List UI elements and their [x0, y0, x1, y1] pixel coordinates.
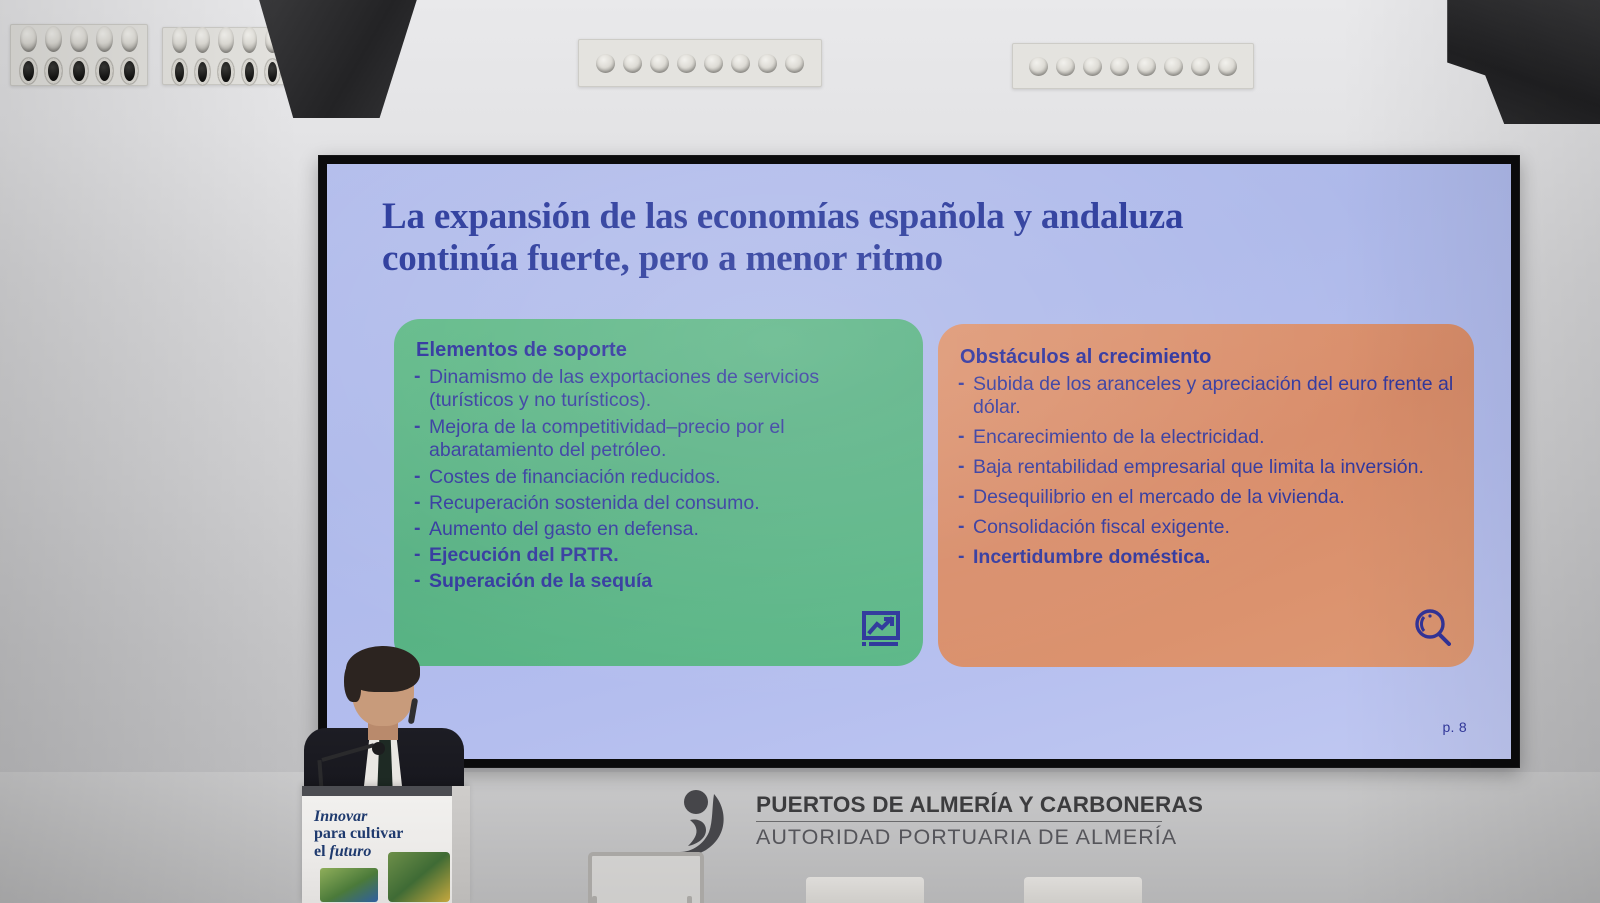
microphone-head-icon [372, 742, 385, 755]
chair-1 [588, 852, 698, 903]
vent-hole-icon [121, 26, 138, 52]
vent-hole-icon [623, 54, 642, 73]
vent-hole-icon [1137, 57, 1156, 76]
vent-hole-icon [172, 59, 187, 85]
bullet-dash-icon: - [958, 485, 973, 508]
bullet-text: Consolidación fiscal exigente. [973, 516, 1458, 539]
vent-hole-icon [704, 54, 723, 73]
presentation-slide: La expansión de las economías española y… [327, 164, 1511, 759]
bullet-text: Ejecución del PRTR. [429, 544, 907, 567]
podium-photo-field [320, 868, 378, 902]
bullet-text: Aumento del gasto en defensa. [429, 518, 907, 541]
bullet-text: Mejora de la competitividad–precio por e… [429, 416, 907, 462]
chair-leg [592, 896, 597, 903]
wall-logo: PUERTOS DE ALMERÍA Y CARBONERAS AUTORIDA… [676, 786, 1162, 866]
bullet-text: Encarecimiento de la electricidad. [973, 426, 1458, 449]
vent-hole-icon [1164, 57, 1183, 76]
bullet-text: Subida de los aranceles y apreciación de… [973, 373, 1458, 419]
slide-title-line-2: continúa fuerte, pero a menor ritmo [382, 238, 1392, 280]
port-authority-figure-icon [676, 788, 740, 862]
vent-hole-icon [785, 54, 804, 73]
wall-logo-title: PUERTOS DE ALMERÍA Y CARBONERAS [756, 792, 1162, 818]
panel-obstacles: Obstáculos al crecimiento - Subida de lo… [938, 324, 1474, 667]
vent-hole-icon [45, 58, 62, 84]
bullet-dash-icon: - [414, 491, 429, 514]
bullet-text: Recuperación sostenida del consumo. [429, 492, 907, 515]
magnifier-icon [1412, 608, 1452, 651]
chart-up-icon [861, 611, 901, 652]
bullet-text: Costes de financiación reducidos. [429, 466, 907, 489]
chair-backrest [588, 852, 704, 903]
podium: Innovar para cultivar el futuro [302, 786, 468, 903]
vent-hole-icon [758, 54, 777, 73]
panel-obstacles-heading: Obstáculos al crecimiento [960, 346, 1474, 369]
vent-row-bottom [172, 59, 280, 85]
vent-hole-icon [731, 54, 750, 73]
vent-hole-icon [218, 59, 233, 85]
panel-support-bullet-list: - Dinamismo de las exportaciones de serv… [394, 366, 923, 593]
podium-sign-line-3-plain: el [314, 843, 330, 860]
wall-logo-divider [756, 821, 1162, 822]
vent-hole-icon [1110, 57, 1129, 76]
bullet-text: Incertidumbre doméstica. [973, 546, 1458, 569]
vent-hole-icon [242, 27, 257, 53]
vent-hole-icon [650, 54, 669, 73]
panel-obstacles-bullet-list: - Subida de los aranceles y apreciación … [938, 373, 1474, 569]
vent-hole-icon [677, 54, 696, 73]
bullet-text: Superación de la sequía [429, 570, 907, 593]
bullet-dash-icon: - [414, 517, 429, 540]
wall-logo-subtitle: AUTORIDAD PORTUARIA DE ALMERÍA [756, 825, 1162, 850]
vent-hole-icon [96, 58, 113, 84]
slide-page-number: p. 8 [1442, 719, 1467, 735]
vent-row-top [588, 54, 812, 73]
bullet-text: Dinamismo de las exportaciones de servic… [429, 366, 907, 412]
vent-hole-icon [1029, 57, 1048, 76]
bullet-item: - Consolidación fiscal exigente. [958, 516, 1474, 539]
vent-hole-icon [45, 26, 62, 52]
vent-hole-icon [1218, 57, 1237, 76]
ceiling-vent-panel-1 [10, 24, 148, 86]
bullet-dash-icon: - [958, 515, 973, 538]
vent-hole-icon [20, 26, 37, 52]
podium-sign-line-2: para cultivar [314, 825, 434, 842]
vent-hole-icon [195, 27, 210, 53]
panel-support-heading: Elementos de soporte [416, 339, 923, 362]
chair-leg [687, 896, 692, 903]
vent-hole-icon [596, 54, 615, 73]
vent-hole-icon [121, 58, 138, 84]
bullet-dash-icon: - [414, 465, 429, 488]
bullet-item: - Costes de financiación reducidos. [414, 466, 923, 489]
podium-sign-line-1: Innovar [314, 808, 434, 825]
wall-logo-text: PUERTOS DE ALMERÍA Y CARBONERAS AUTORIDA… [756, 792, 1162, 850]
vent-hole-icon [96, 26, 113, 52]
podium-photo-tractor [388, 852, 450, 902]
vent-hole-icon [1056, 57, 1075, 76]
panel-support: Elementos de soporte - Dinamismo de las … [394, 319, 923, 666]
podium-top-edge [302, 786, 468, 796]
bullet-item: - Encarecimiento de la electricidad. [958, 426, 1474, 449]
vent-row-top [20, 26, 138, 52]
bullet-text: Baja rentabilidad empresarial que limita… [973, 456, 1458, 479]
bullet-item: - Recuperación sostenida del consumo. [414, 492, 923, 515]
ceiling-vent-panel-4 [1012, 43, 1254, 89]
bullet-item: - Baja rentabilidad empresarial que limi… [958, 456, 1474, 479]
projection-screen-frame: La expansión de las economías española y… [318, 155, 1520, 768]
vent-row-bottom [20, 58, 138, 84]
speaker-hair-side [344, 662, 361, 702]
slide-title-line-1: La expansión de las economías española y… [382, 196, 1392, 238]
bullet-dash-icon: - [958, 545, 973, 568]
bullet-dash-icon: - [958, 425, 973, 448]
vent-row-top [1022, 57, 1244, 76]
vent-row-top [172, 27, 280, 53]
vent-hole-icon [242, 59, 257, 85]
bullet-dash-icon: - [958, 455, 973, 478]
podium-sign-line-3-italic: futuro [330, 843, 372, 860]
bullet-item: - Mejora de la competitividad–precio por… [414, 416, 923, 462]
bullet-item: - Dinamismo de las exportaciones de serv… [414, 366, 923, 412]
vent-hole-icon [1083, 57, 1102, 76]
chair-3-seat [1024, 877, 1142, 903]
vent-hole-icon [1191, 57, 1210, 76]
bullet-item: - Subida de los aranceles y apreciación … [958, 373, 1474, 419]
bullet-item: - Ejecución del PRTR. [414, 544, 923, 567]
bullet-dash-icon: - [414, 365, 429, 388]
screenshot-stage: La expansión de las economías española y… [0, 0, 1600, 903]
slide-title: La expansión de las economías española y… [382, 196, 1392, 280]
bullet-dash-icon: - [414, 543, 429, 566]
ceiling-vent-panel-3 [578, 39, 822, 87]
vent-hole-icon [218, 27, 233, 53]
bullet-item: - Aumento del gasto en defensa. [414, 518, 923, 541]
bullet-item: - Incertidumbre doméstica. [958, 546, 1474, 569]
vent-hole-icon [172, 27, 187, 53]
vent-hole-icon [70, 26, 87, 52]
vent-hole-icon [70, 58, 87, 84]
chair-2-seat [806, 877, 924, 903]
bullet-dash-icon: - [958, 372, 973, 395]
vent-hole-icon [20, 58, 37, 84]
bullet-dash-icon: - [414, 569, 429, 592]
podium-side-panel [452, 786, 470, 903]
screen-glare [327, 164, 1511, 759]
vent-hole-icon [195, 59, 210, 85]
bullet-dash-icon: - [414, 415, 429, 438]
bullet-text: Desequilibrio en el mercado de la vivien… [973, 486, 1458, 509]
bullet-item: - Desequilibrio en el mercado de la vivi… [958, 486, 1474, 509]
bullet-item: - Superación de la sequía [414, 570, 923, 593]
